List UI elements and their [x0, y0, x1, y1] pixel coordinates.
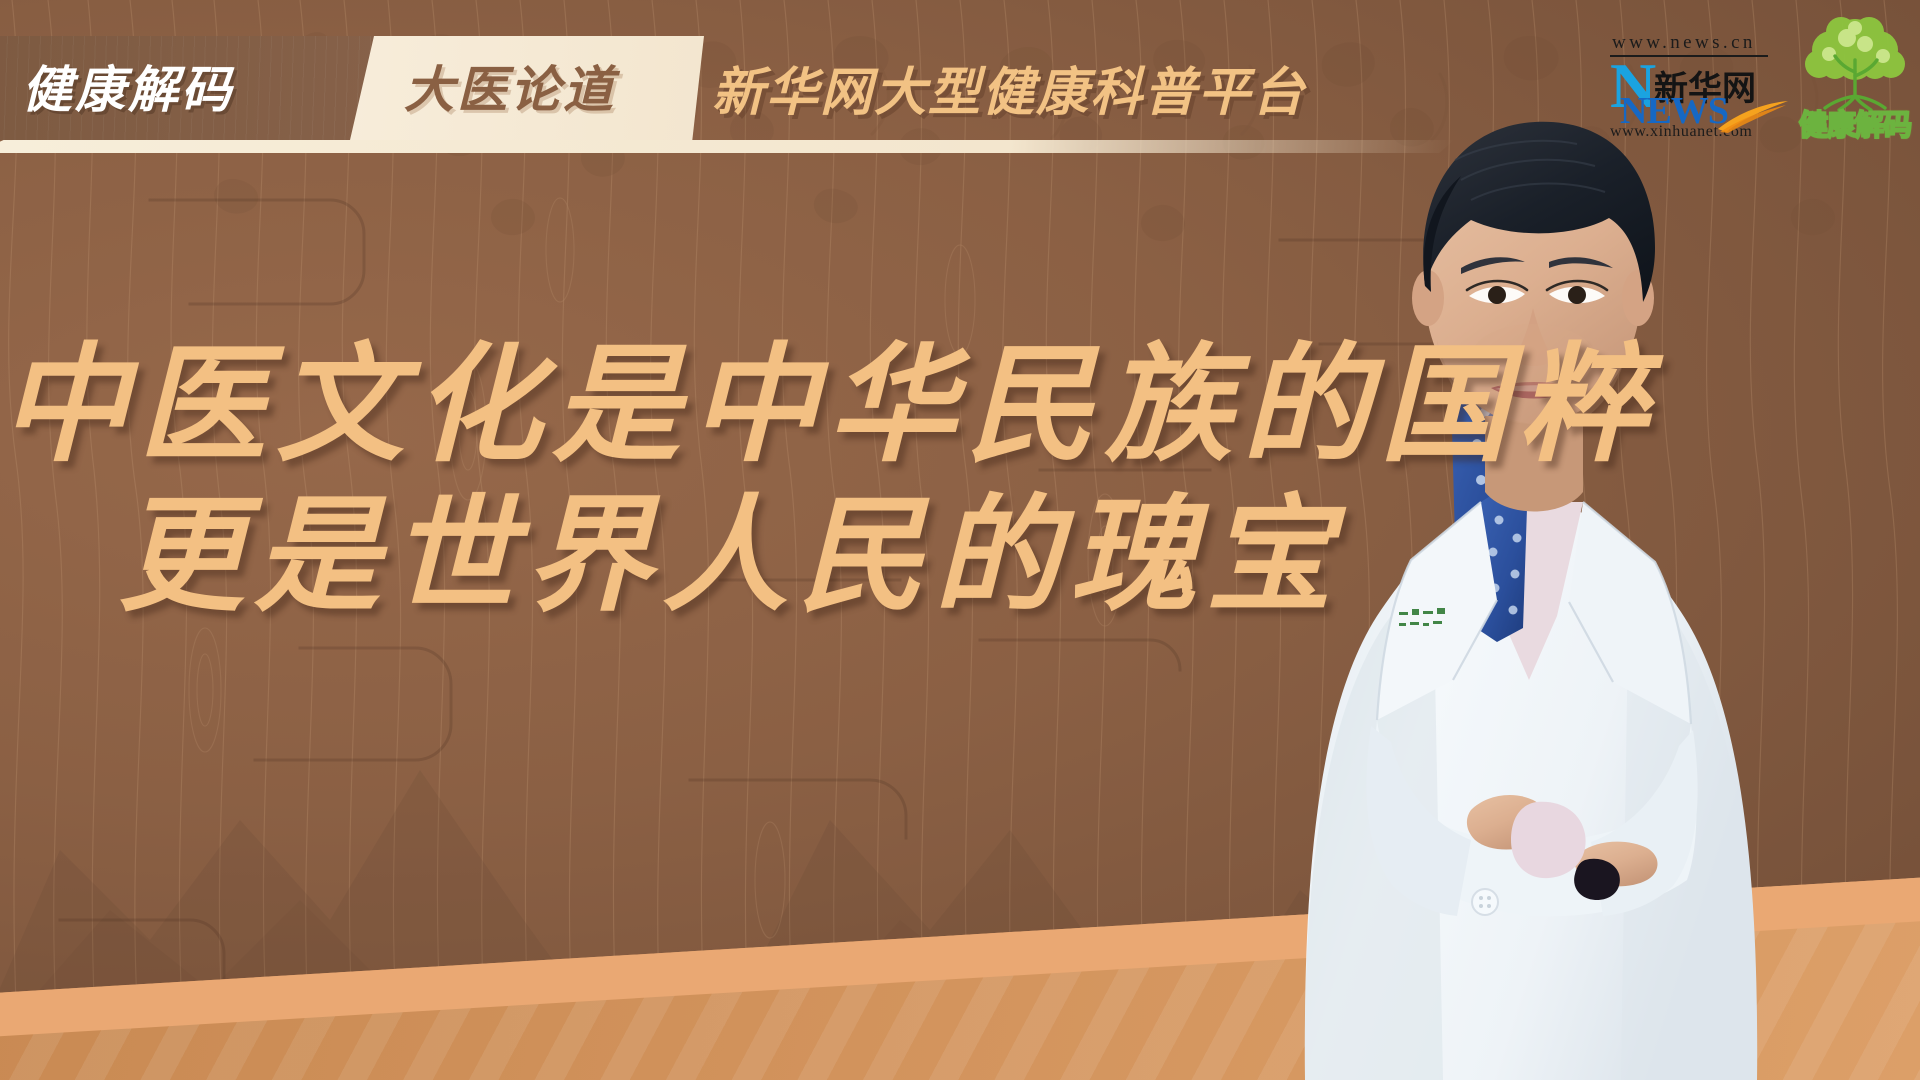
program-name: 健康解码: [22, 50, 234, 122]
health-decode-logo[interactable]: 健康解码: [1795, 14, 1915, 150]
banner-underline: [0, 140, 1454, 153]
tree-icon: [1795, 14, 1915, 114]
program-banner: 健康解码 大医论道: [0, 36, 704, 140]
title-card-canvas: 健康解码 大医论道 新华网大型健康科普平台 www.news.cn N 新华网 …: [0, 0, 1920, 1080]
xinhua-wordmark: NEWS: [1620, 89, 1728, 133]
doctor-portrait: [1185, 40, 1875, 1080]
platform-tagline: 新华网大型健康科普平台: [712, 50, 1306, 125]
xinhua-swoosh-icon: [1716, 99, 1790, 133]
xinhua-mark: N 新华网 NEWS: [1610, 59, 1790, 121]
xinhua-logo[interactable]: www.news.cn N 新华网 NEWS www.xinhuanet.com: [1610, 32, 1790, 152]
health-decode-caption: 健康解码: [1797, 102, 1913, 144]
segment-name: 大医论道: [404, 50, 616, 122]
